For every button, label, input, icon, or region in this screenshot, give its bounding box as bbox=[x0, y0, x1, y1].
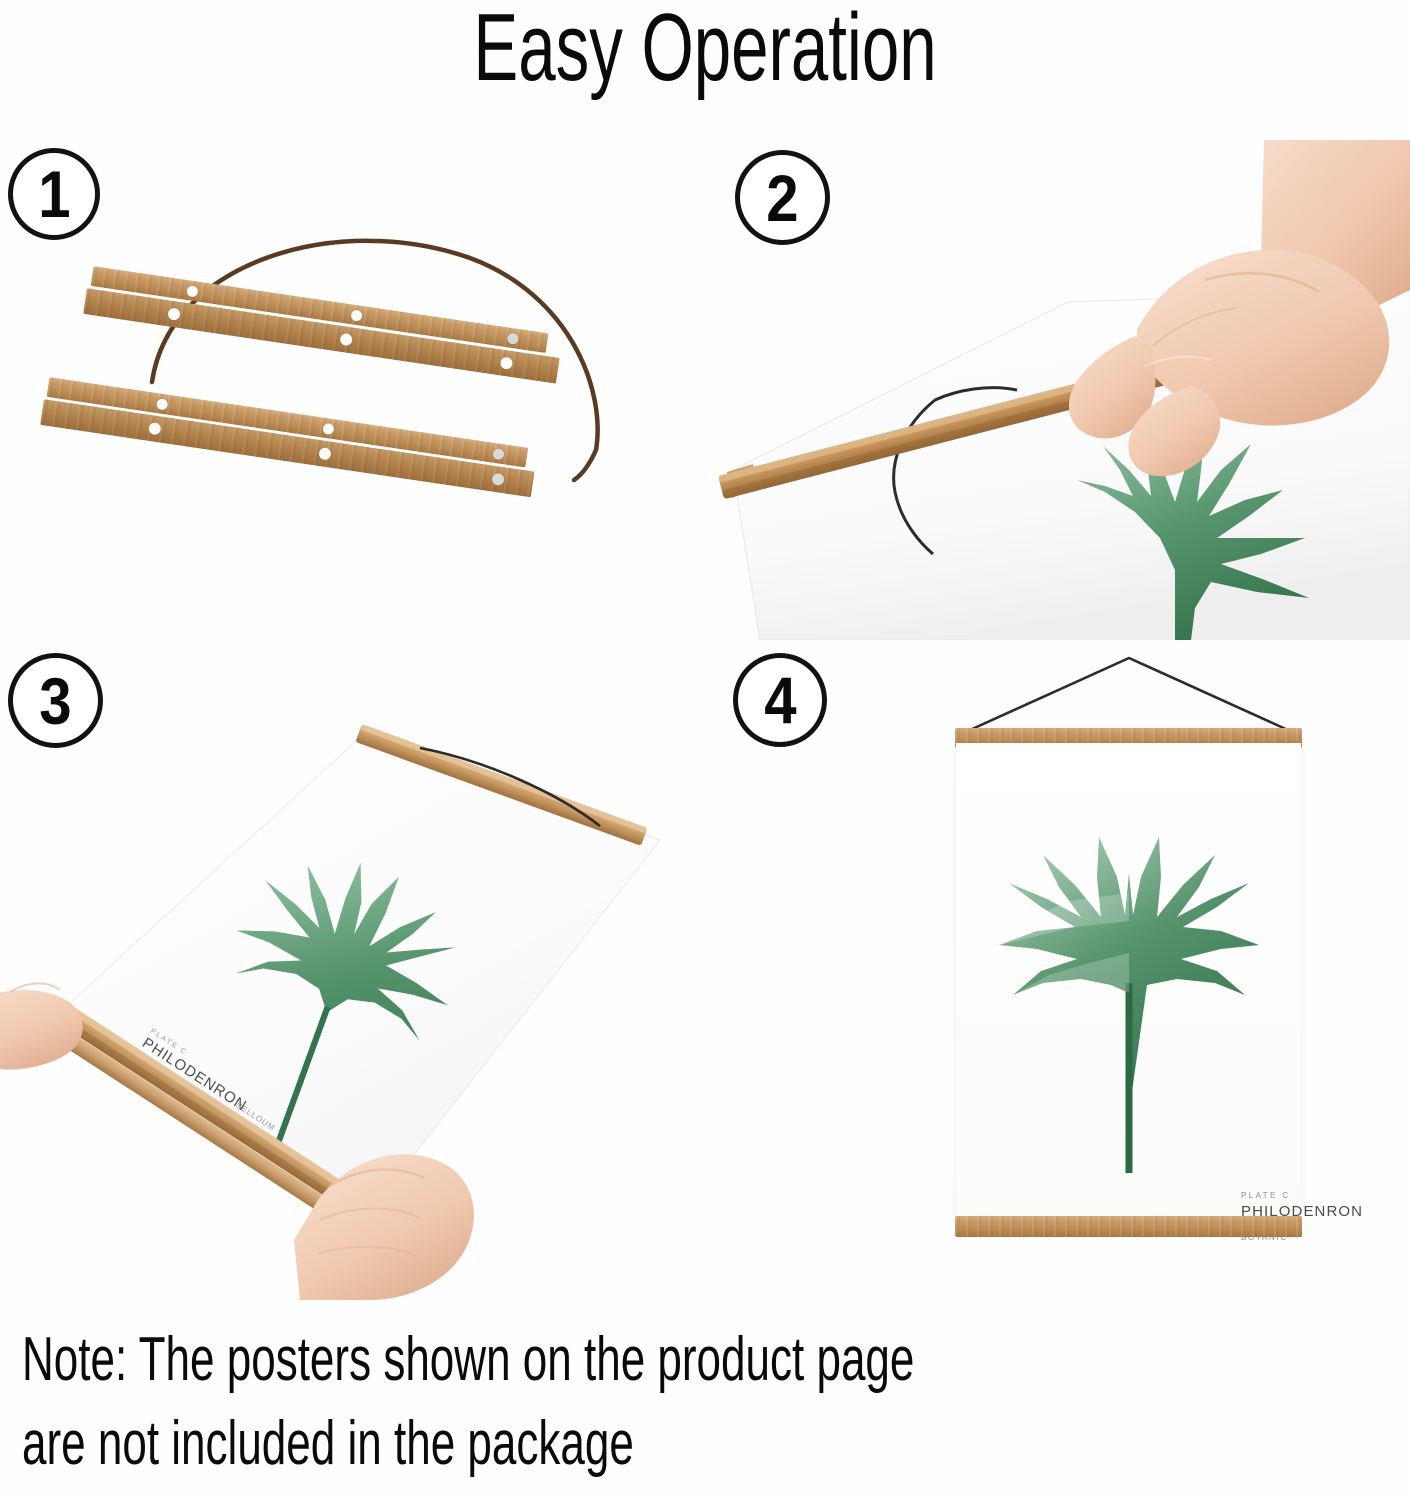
step-badge-2: 2 bbox=[735, 150, 830, 245]
poster-leaf-art bbox=[956, 743, 1301, 1223]
step-4-illustration: PLATE C PHILODENRON SELLOUM URBAN BOTANI… bbox=[705, 640, 1410, 1300]
step-badge-4: 4 bbox=[733, 653, 827, 747]
plate-label: PLATE C bbox=[1241, 1191, 1291, 1200]
hand-left bbox=[0, 983, 83, 1069]
step-3-scene: PLATE C PHILODENRON SELLOUM URBAN BOTANI… bbox=[0, 640, 705, 1300]
step-3-illustration: PLATE C PHILODENRON SELLOUM URBAN BOTANI… bbox=[0, 640, 705, 1300]
step-badge-3: 3 bbox=[8, 653, 103, 748]
bottom-rail bbox=[955, 1216, 1302, 1237]
note-text: Note: The posters shown on the product p… bbox=[22, 1318, 1002, 1486]
poster: PLATE C PHILODENRON SELLOUM URBAN BOTANI… bbox=[956, 743, 1301, 1223]
step-1-illustration bbox=[0, 140, 705, 640]
page-title: Easy Operation bbox=[212, 0, 1199, 102]
step-badge-1: 1 bbox=[8, 148, 100, 240]
instruction-sheet: Easy Operation bbox=[0, 0, 1410, 1497]
